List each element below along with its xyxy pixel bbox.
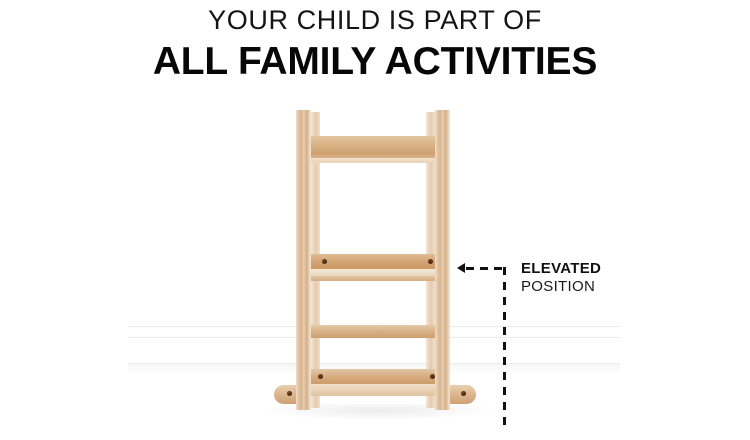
annotation-title: ELEVATED bbox=[521, 260, 601, 278]
annotation-subtitle: POSITION bbox=[521, 278, 601, 296]
annotation-elevated-position: ELEVATED POSITION bbox=[0, 0, 750, 440]
dashed-line-vertical bbox=[503, 267, 506, 425]
arrow-left-icon bbox=[457, 263, 465, 273]
annotation-text-block: ELEVATED POSITION bbox=[521, 260, 601, 296]
dashed-line-horizontal bbox=[466, 267, 506, 270]
marketing-image-canvas: YOUR CHILD IS PART OF ALL FAMILY ACTIVIT… bbox=[0, 0, 750, 440]
